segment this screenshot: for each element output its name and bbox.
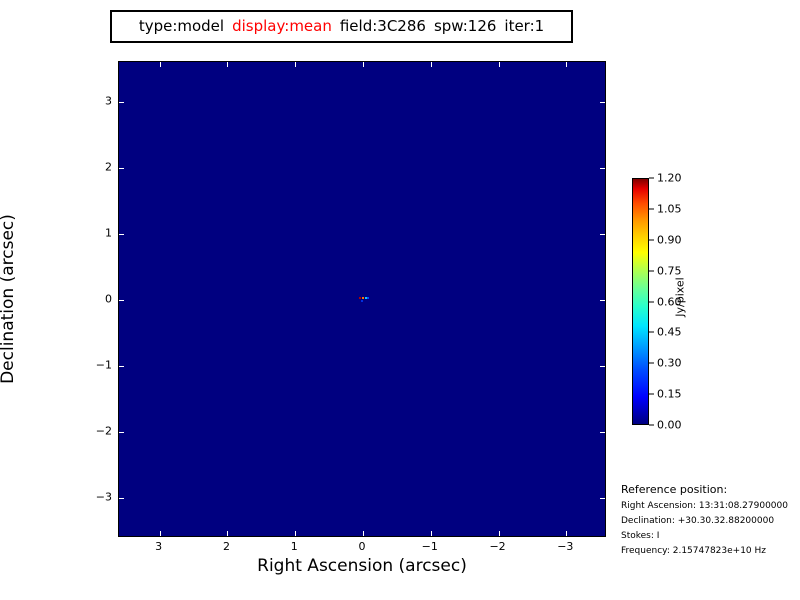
y-tick-label: −1 — [96, 360, 112, 371]
y-tick-label: −3 — [96, 492, 112, 503]
x-tick-label: 2 — [223, 541, 230, 552]
x-tick-mark — [499, 62, 500, 67]
colorbar-tick-mark — [649, 425, 654, 426]
colorbar[interactable] — [632, 178, 649, 425]
y-tick-mark — [600, 366, 605, 367]
y-tick-mark — [600, 498, 605, 499]
colorbar-tick-mark — [649, 178, 654, 179]
x-tick-label: 1 — [291, 541, 298, 552]
y-tick-label: 0 — [105, 294, 112, 305]
x-tick-mark — [295, 531, 296, 536]
colorbar-tick-mark — [649, 332, 654, 333]
y-tick-mark — [119, 168, 124, 169]
y-tick-mark — [600, 432, 605, 433]
y-tick-label: −2 — [96, 426, 112, 437]
reference-position-block: Reference position: Right Ascension: 13:… — [621, 484, 799, 562]
reference-position-stokes: Stokes: I — [621, 532, 799, 541]
x-axis-label: Right Ascension (arcsec) — [118, 558, 606, 575]
y-axis-label: Declination (arcsec) — [0, 149, 17, 449]
x-tick-mark — [566, 531, 567, 536]
y-tick-mark — [119, 432, 124, 433]
x-tick-mark — [566, 62, 567, 67]
y-tick-mark — [600, 102, 605, 103]
y-tick-mark — [119, 234, 124, 235]
title-segment-field: field:3C286 — [336, 19, 430, 34]
x-tick-mark — [160, 531, 161, 536]
colorbar-tick-mark — [649, 363, 654, 364]
y-tick-mark — [600, 300, 605, 301]
model-point-source-pixel — [365, 297, 367, 299]
colorbar-tick-label: 1.20 — [657, 173, 682, 184]
y-tick-mark — [119, 366, 124, 367]
y-tick-mark — [600, 168, 605, 169]
title-segment-spw: spw:126 — [430, 19, 500, 34]
colorbar-tick-mark — [649, 239, 654, 240]
model-image-canvas — [119, 62, 605, 536]
colorbar-tick-label: 0.45 — [657, 327, 682, 338]
colorbar-tick-label: 0.90 — [657, 234, 682, 245]
reference-position-declination: Declination: +30.30.32.88200000 — [621, 517, 799, 526]
x-tick-mark — [431, 531, 432, 536]
x-tick-label: 0 — [359, 541, 366, 552]
x-tick-mark — [363, 531, 364, 536]
x-tick-label: 3 — [155, 541, 162, 552]
y-tick-label: 1 — [105, 227, 112, 238]
title-segment-display: display:mean — [228, 19, 336, 34]
x-tick-mark — [160, 62, 161, 67]
x-tick-mark — [227, 62, 228, 67]
x-tick-label: −2 — [489, 541, 505, 552]
x-tick-label: −1 — [422, 541, 438, 552]
y-tick-label: 3 — [105, 95, 112, 106]
colorbar-tick-mark — [649, 208, 654, 209]
y-tick-mark — [119, 300, 124, 301]
x-tick-label: −3 — [557, 541, 573, 552]
x-tick-mark — [363, 62, 364, 67]
colorbar-tick-mark — [649, 270, 654, 271]
reference-position-right-ascension: Right Ascension: 13:31:08.27900000 — [621, 502, 799, 511]
colorbar-tick-label: 0.00 — [657, 420, 682, 431]
title-segment-iter: iter:1 — [500, 19, 548, 34]
x-tick-mark — [499, 531, 500, 536]
x-tick-mark — [431, 62, 432, 67]
x-tick-mark — [227, 531, 228, 536]
reference-position-heading: Reference position: — [621, 484, 799, 495]
sky-image-axes[interactable] — [118, 61, 606, 537]
title-segment-type: type:model — [135, 19, 228, 34]
colorbar-tick-mark — [649, 301, 654, 302]
x-tick-mark — [295, 62, 296, 67]
colorbar-tick-label: 0.30 — [657, 358, 682, 369]
y-tick-mark — [119, 102, 124, 103]
colorbar-unit-label: Jy/pixel — [675, 277, 686, 317]
y-tick-mark — [119, 498, 124, 499]
colorbar-tick-mark — [649, 394, 654, 395]
colorbar-tick-label: 1.05 — [657, 203, 682, 214]
model-point-source-pixel — [367, 297, 369, 299]
y-tick-mark — [600, 234, 605, 235]
colorbar-tick-label: 0.15 — [657, 389, 682, 400]
plot-title-box: type:model display:mean field:3C286 spw:… — [110, 10, 573, 43]
colorbar-tick-label: 0.75 — [657, 265, 682, 276]
y-tick-label: 2 — [105, 161, 112, 172]
reference-position-frequency: Frequency: 2.15747823e+10 Hz — [621, 547, 799, 556]
model-point-source-pixel — [361, 300, 363, 302]
